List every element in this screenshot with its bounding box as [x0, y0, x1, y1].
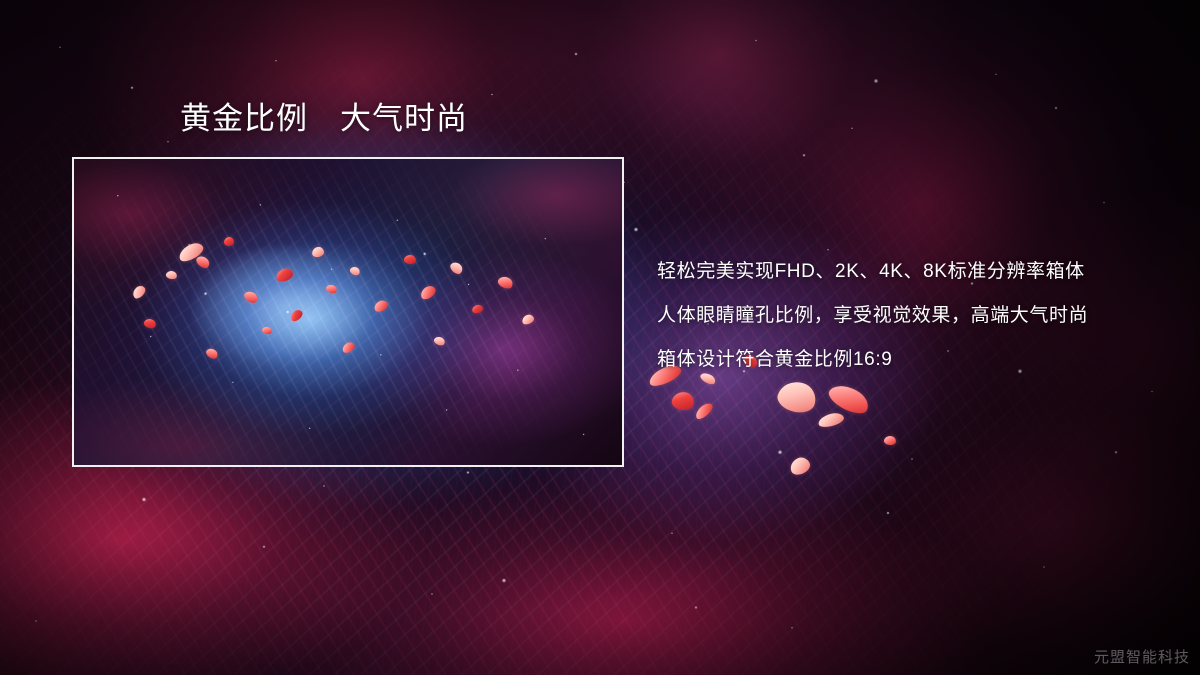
petal [418, 283, 437, 301]
petal [130, 284, 147, 301]
petal [325, 283, 338, 295]
petal [775, 377, 820, 416]
petal [693, 401, 715, 422]
petal [788, 455, 813, 477]
petal [341, 340, 357, 354]
petal [883, 435, 896, 446]
body-line-2: 人体眼睛瞳孔比例，享受视觉效果，高端大气时尚 [657, 294, 1177, 338]
petal [448, 260, 464, 276]
petal [165, 270, 177, 280]
petal [275, 267, 295, 284]
petal [521, 313, 535, 326]
petal [349, 265, 362, 277]
petal [242, 289, 259, 305]
petal [817, 411, 845, 429]
petal-group-framed [74, 159, 622, 465]
petal [224, 237, 234, 246]
petal [825, 379, 872, 418]
body-line-1: 轻松完美实现FHD、2K、4K、8K标准分辨率箱体 [657, 250, 1177, 294]
body-text-block: 轻松完美实现FHD、2K、4K、8K标准分辨率箱体 人体眼睛瞳孔比例，享受视觉效… [657, 250, 1177, 382]
petal [671, 390, 696, 412]
petal [373, 299, 390, 314]
petal [496, 274, 514, 290]
petal [403, 254, 416, 265]
petal [205, 346, 220, 360]
petal [311, 246, 324, 258]
watermark: 元盟智能科技 [1094, 646, 1190, 667]
petal [176, 240, 206, 265]
petal [143, 317, 157, 329]
petal [194, 254, 211, 271]
framed-image [72, 157, 624, 467]
petal [261, 326, 273, 335]
petal [289, 308, 305, 323]
petal [433, 335, 446, 347]
petal [471, 304, 483, 314]
page-title: 黄金比例 大气时尚 [180, 101, 468, 138]
slide-canvas: 黄金比例 大气时尚 轻松完美实现FHD、2K、4K、8K标准分辨率箱体 人体眼睛… [0, 0, 1200, 675]
body-line-3: 箱体设计符合黄金比例16:9 [657, 338, 1177, 382]
